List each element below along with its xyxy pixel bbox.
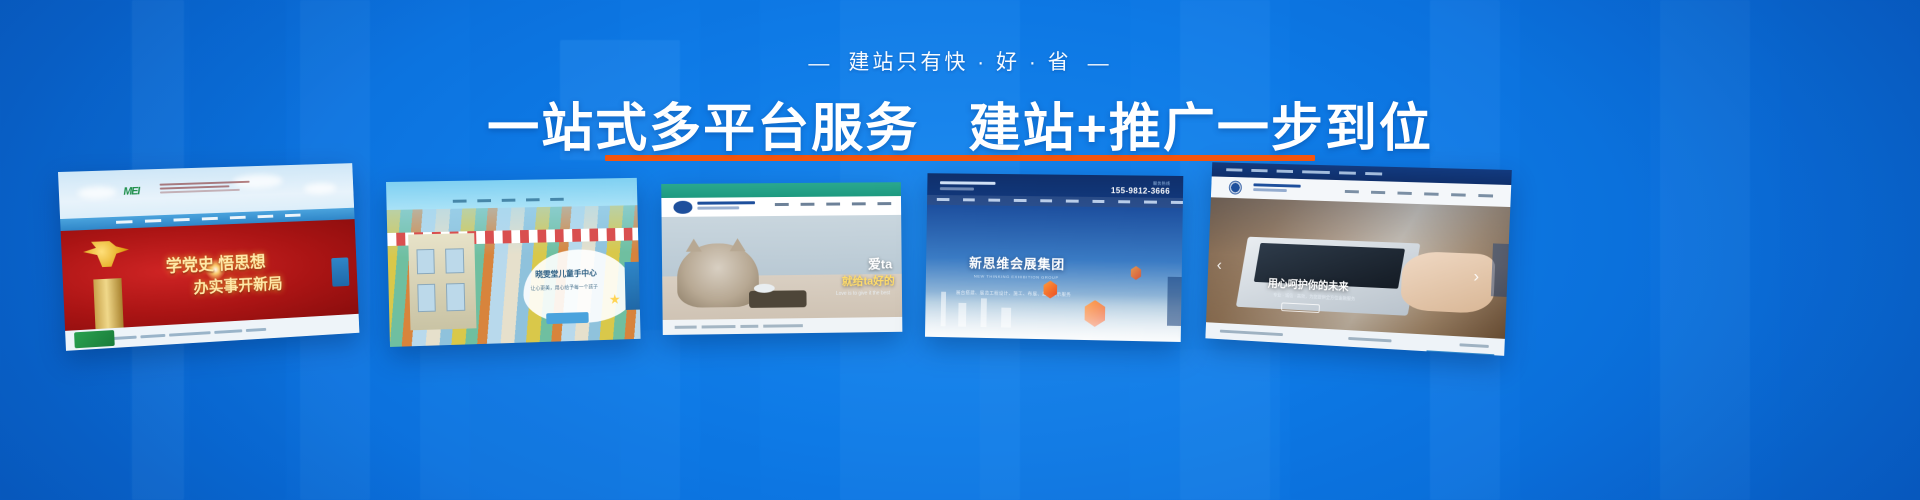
card1-logo: MEI [123, 185, 139, 197]
party-emblem-icon [83, 240, 130, 268]
next-arrow-icon[interactable]: › [1473, 266, 1479, 286]
promo-banner: —建站只有快 · 好 · 省— 一站式多平台服务 建站+推广一步到位 MEI [0, 0, 1920, 500]
card4-hero-title: 新思维会展集团 [969, 253, 1065, 273]
card5-logo-text [1253, 183, 1301, 195]
card2-cta-button[interactable] [546, 312, 588, 324]
card4-phone-block: 服务热线 155-9812-3666 [1111, 180, 1170, 196]
card4-phone-number: 155-9812-3666 [1111, 186, 1170, 196]
card5-navbar[interactable] [1345, 190, 1493, 197]
card3-hero-line2: 就给ta好的 [842, 272, 895, 288]
monument-icon [94, 278, 124, 329]
card5-logo-icon [1228, 180, 1243, 196]
hand-illustration [1401, 250, 1496, 314]
card2-building [408, 233, 476, 330]
subtitle-text: 建站只有快 · 好 · 省 [848, 51, 1071, 74]
card5-chat-button[interactable] [1426, 350, 1494, 355]
showcase-card-finance[interactable]: 用心呵护你的未来 专业 · 诚信 · 高效，为您提供全方位金融服务 ‹ › [1205, 162, 1511, 356]
subtitle-dash-right: — [1088, 53, 1112, 74]
card4-hero-sub: NEW THINKING EXHIBITION GROUP [974, 274, 1059, 280]
card1-footer-badge [74, 330, 115, 348]
showcase-card-exhibition-group[interactable]: 服务热线 155-9812-3666 新思维会展集团 NEW THINKING … [925, 173, 1183, 342]
subtitle-dash-left: — [808, 53, 832, 74]
showcase-card-party-history[interactable]: MEI 学党史 悟思想 办实事开新局 [58, 163, 359, 351]
banner-subtitle: —建站只有快 · 好 · 省— [0, 52, 1920, 74]
showcase-card-kindergarten[interactable]: 晓雯堂儿童手中心 让心更美，用心给予每一个孩子 [386, 178, 641, 347]
card3-hero: 爱ta 就给ta好的 Love is to give it the best [662, 215, 903, 320]
card3-footer [663, 317, 903, 335]
card3-hero-line1: 爱ta [868, 254, 892, 273]
banner-title: 一站式多平台服务 建站+推广一步到位 [487, 100, 1433, 158]
showcase-card-pet-care[interactable]: 爱ta 就给ta好的 Love is to give it the best [661, 182, 902, 335]
laptop-illustration [1236, 237, 1420, 316]
card2-hero-photo: 晓雯堂儿童手中心 让心更美，用心给予每一个孩子 [387, 205, 641, 347]
prev-arrow-icon[interactable]: ‹ [1216, 255, 1222, 274]
card3-logo-text [698, 201, 756, 211]
banner-title-wrap: 一站式多平台服务 建站+推广一步到位 [487, 100, 1433, 158]
card4-logo [940, 182, 996, 194]
card4-side-toolbar[interactable] [1167, 277, 1182, 326]
card2-side-toolbar[interactable] [624, 261, 640, 310]
website-showcase-strip: MEI 学党史 悟思想 办实事开新局 [0, 166, 1920, 386]
cat-illustration [676, 243, 759, 307]
card4-hero: 新思维会展集团 NEW THINKING EXHIBITION GROUP 展台… [925, 204, 1183, 342]
card1-hero: 学党史 悟思想 办实事开新局 [61, 219, 359, 331]
card5-side-toolbar[interactable] [1491, 244, 1509, 297]
card2-bubble-title: 晓雯堂儿童手中心 [535, 268, 597, 280]
polygon-decor-icon [1130, 266, 1142, 280]
card3-hero-sub: Love is to give it the best [836, 291, 890, 298]
card1-hero-line2: 办实事开新局 [193, 270, 283, 298]
card5-hero-photo: 用心呵护你的未来 专业 · 诚信 · 高效，为您提供全方位金融服务 ‹ › [1206, 197, 1510, 339]
banner-heading-group: —建站只有快 · 好 · 省— 一站式多平台服务 建站+推广一步到位 [0, 52, 1920, 158]
card1-side-toolbar[interactable] [331, 258, 349, 287]
pet-bowl-icon [749, 291, 807, 308]
card5-cta-button[interactable] [1281, 303, 1319, 314]
